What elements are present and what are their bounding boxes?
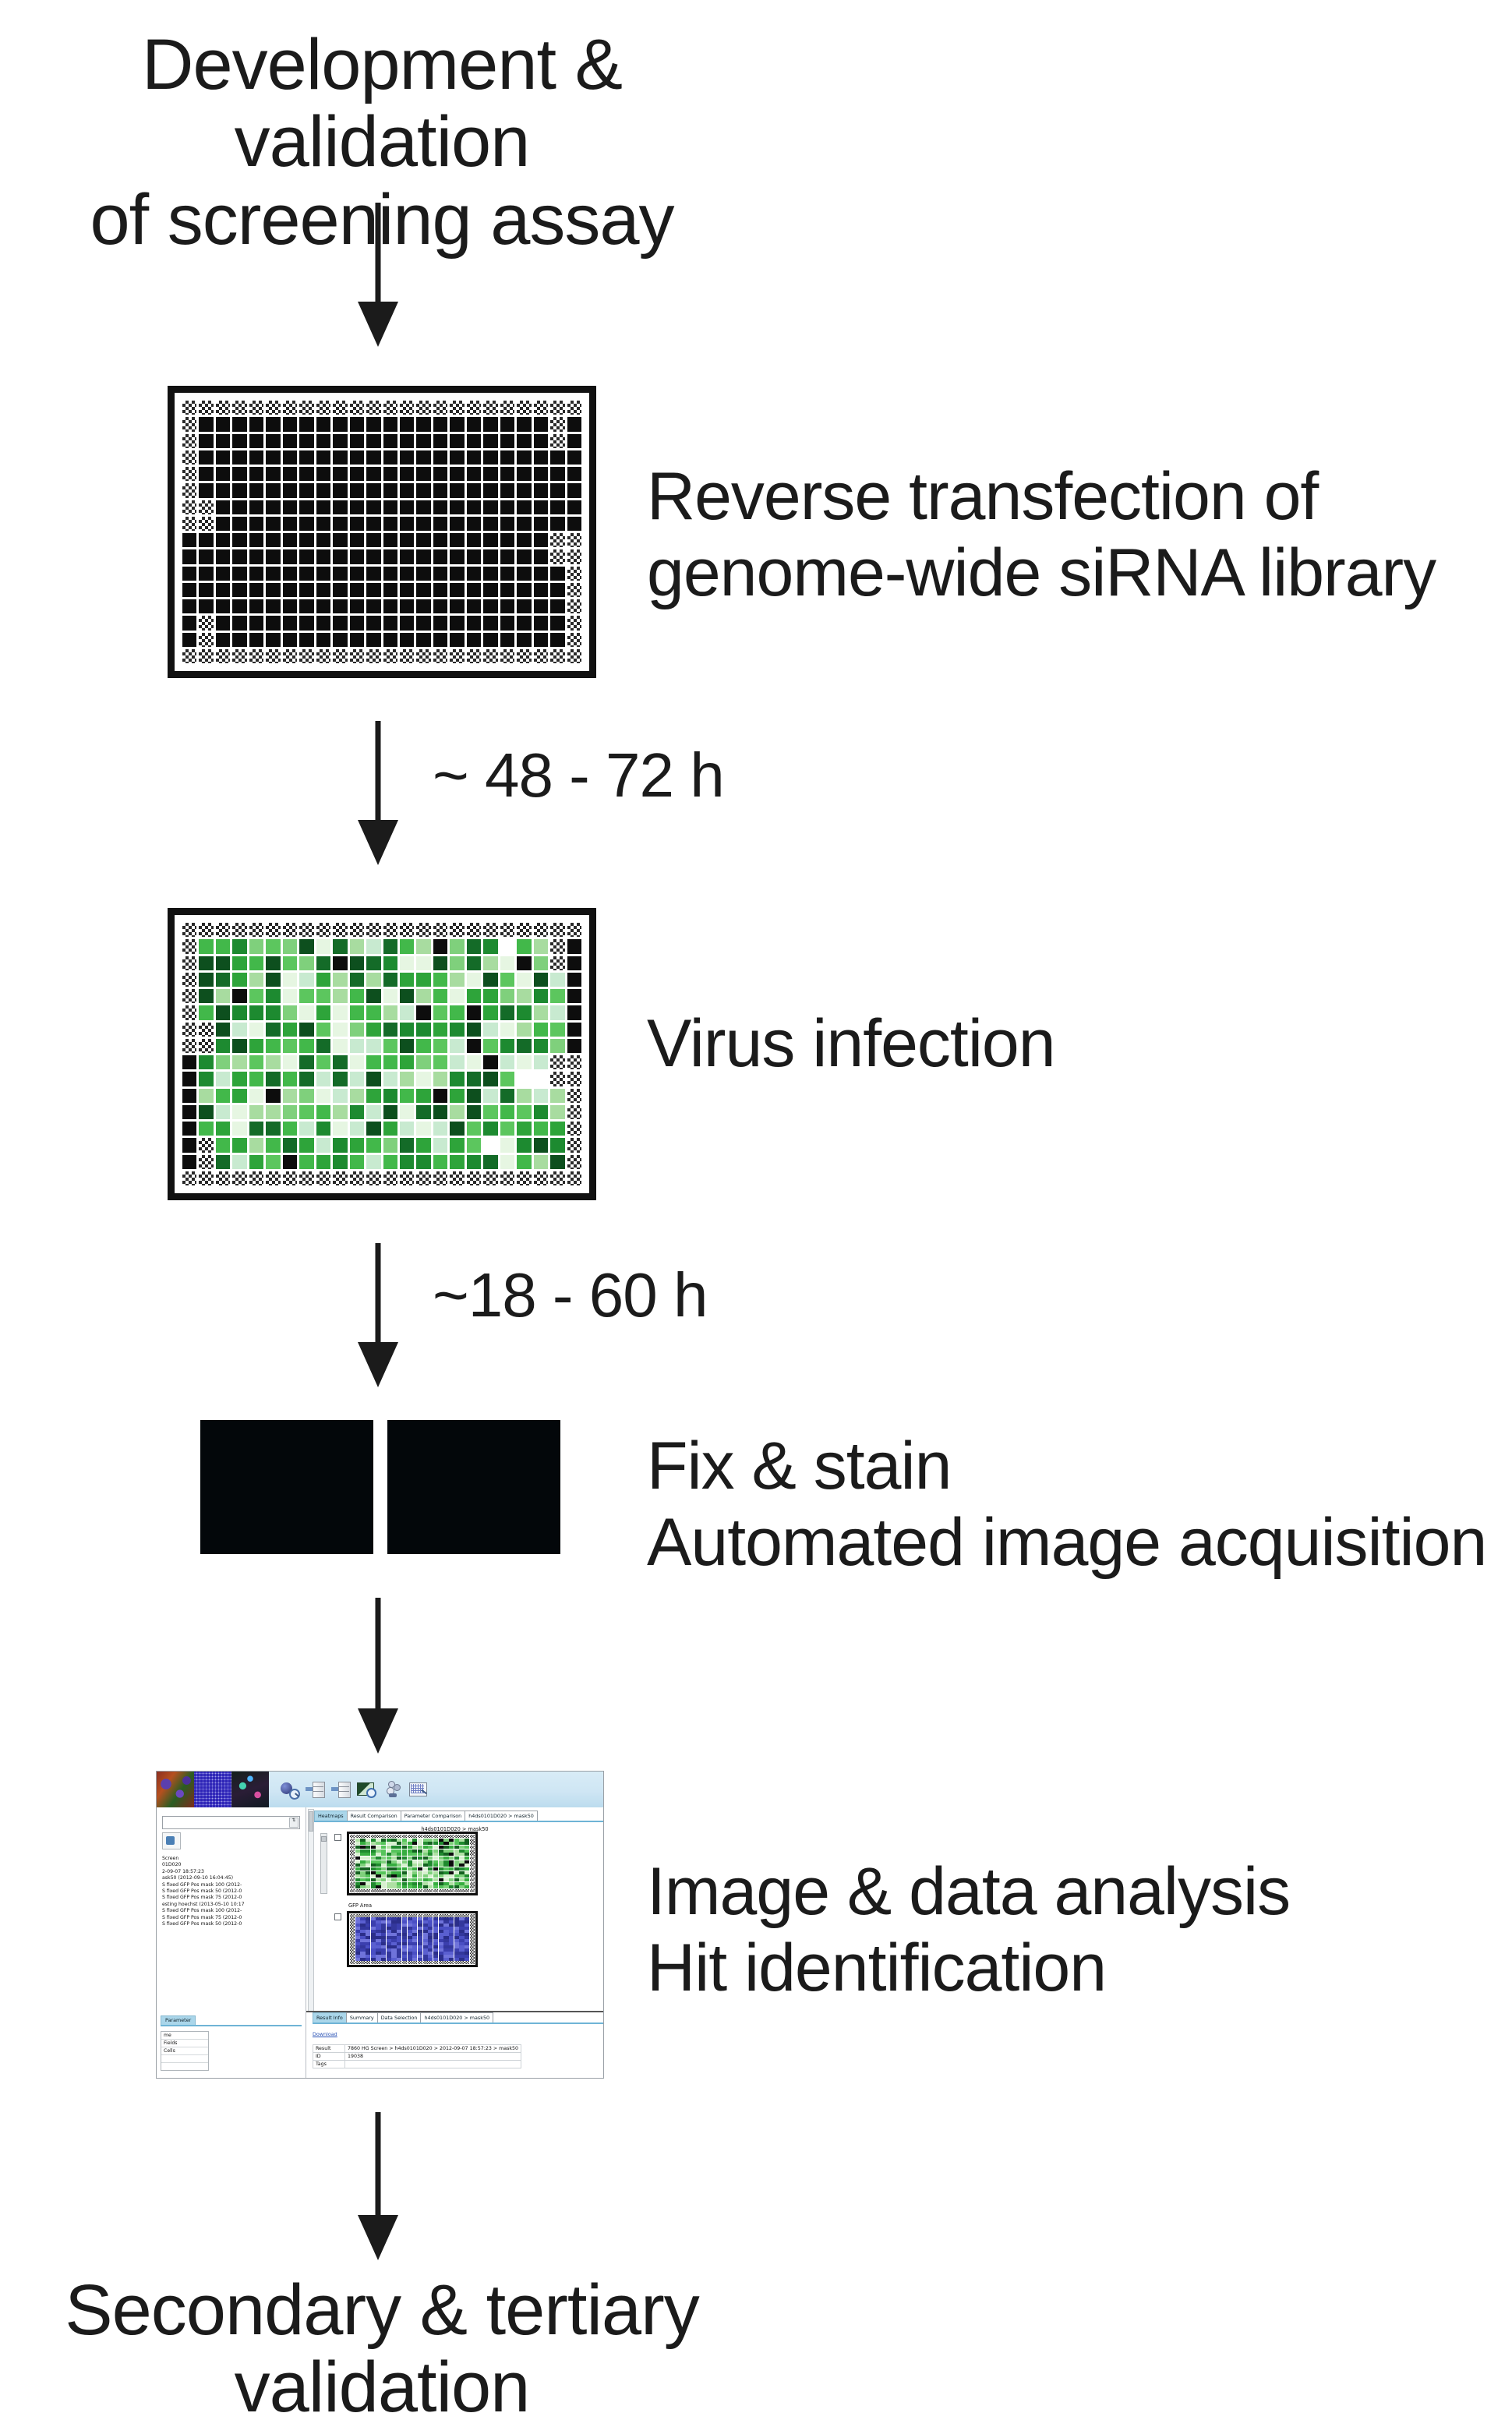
mini-well [402,1835,407,1838]
plate-well [383,1005,397,1019]
mini-well [412,1835,417,1838]
plate-well [483,956,497,970]
tree-item[interactable]: ask50 (2012-09-10 16:04:45) [162,1875,300,1881]
tree-item[interactable]: S fixed GFP Pos mask 50 (2012-0 [162,1921,300,1927]
plate-well [199,923,213,937]
mini-well [360,1846,365,1849]
plate-well [266,1005,280,1019]
mini-well [428,1961,433,1964]
plate-well [400,517,414,531]
mini-well [470,1942,475,1945]
mini-well [412,1885,417,1888]
list-item[interactable]: Cells [161,2047,208,2055]
plate-well [232,599,246,613]
import-plate-icon[interactable] [306,1780,326,1799]
plate-well [400,417,414,431]
plate-well [266,923,280,937]
mini-well [371,1958,376,1961]
plate-well [333,973,347,987]
plate-well [534,467,548,481]
plate-well [534,1122,548,1136]
plate-well [483,989,497,1003]
mini-well [391,1842,396,1845]
heatmap-green-plate[interactable] [347,1832,478,1895]
mini-well [443,1914,448,1917]
plate-well [316,989,330,1003]
mini-well [465,1939,469,1942]
plate-well [316,533,330,547]
mini-well [443,1846,448,1849]
plate-well [316,450,330,465]
plate-well [182,973,196,987]
tree-item[interactable]: 2-09-07 18:57:23 [162,1869,300,1875]
tree-item[interactable]: esting hoechst (2013-05-10 10:17 [162,1902,300,1908]
plate-well [567,1155,581,1169]
plate-well [249,1138,263,1152]
plate-well [500,417,514,431]
plate-well [450,1122,464,1136]
mini-well [402,1856,407,1860]
cell-value: 19038 [344,2053,521,2061]
tab-result-info[interactable]: Result Info [313,2012,347,2022]
mini-well [449,1958,454,1961]
plate-well [433,989,447,1003]
mini-well [439,1924,443,1927]
mini-well [402,1871,407,1874]
mini-well [459,1936,464,1939]
mini-well [387,1924,391,1927]
plate-well [500,467,514,481]
mini-well [412,1955,417,1958]
plate-well [534,1005,548,1019]
plate-well [517,616,531,630]
tab-data-selection[interactable]: Data Selection [377,2012,422,2022]
mini-well [470,1961,475,1964]
plate-well [283,1072,297,1086]
mini-well [443,1864,448,1867]
plate-well [232,1005,246,1019]
plate-well [450,1171,464,1185]
mini-well [366,1867,370,1871]
plate-well [350,1072,364,1086]
plate-well [483,1072,497,1086]
mini-well [449,1936,454,1939]
plate-well [517,1105,531,1119]
mini-well [449,1920,454,1924]
plate-well [283,483,297,497]
mini-well [381,1917,386,1920]
mini-well [443,1952,448,1955]
right-panel: HeatmapsResult ComparisonParameter Compa… [306,1807,603,2078]
mini-well [454,1930,459,1933]
result-tree[interactable]: Screen 01D020 2-09-07 18:57:23 ask50 (20… [161,1856,302,1927]
mini-well [433,1952,438,1955]
plate-well [350,1055,364,1069]
plate-well [249,1072,263,1086]
plate-well [500,956,514,970]
mini-well [402,1933,407,1936]
plate-well [534,989,548,1003]
mini-well [402,1955,407,1958]
mini-well [412,1942,417,1945]
plate-well [350,649,364,663]
mini-well [433,1871,438,1874]
plate-well [333,450,347,465]
plate-well [517,1155,531,1169]
list-item[interactable] [161,2055,208,2063]
analysis-software-screenshot[interactable]: ⇅ Screen 01D020 2-09-07 18:57:23 ask50 (… [156,1771,604,2079]
tree-item[interactable]: S fixed GFP Pos mask 50 (2012-0 [162,1888,300,1895]
plate-well [483,633,497,647]
mini-well [355,1864,360,1867]
heatmap-blue-plate[interactable] [347,1911,478,1967]
plate-well [266,1138,280,1152]
mini-well [397,1860,401,1864]
mini-well [397,1871,401,1874]
plate-well [550,1138,564,1152]
mini-well [443,1948,448,1952]
plate-well [483,1055,497,1069]
mini-well [360,1889,365,1892]
plate-well [416,923,430,937]
plate-well [182,1055,196,1069]
mini-well [381,1846,386,1849]
plate-well [249,567,263,581]
mini-well [449,1948,454,1952]
mini-well [470,1871,475,1874]
mini-well [412,1936,417,1939]
plate-well [483,939,497,953]
plate-well [400,533,414,547]
tree-item[interactable]: S fixed GFP Pos mask 100 (2012- [162,1908,300,1914]
mini-well [381,1871,386,1874]
download-link[interactable]: Download [313,2031,337,2037]
tab-heatmaps[interactable]: Heatmaps [314,1811,348,1821]
mini-well [397,1917,401,1920]
mini-well [459,1917,464,1920]
plate-well [266,417,280,431]
mini-well [397,1864,401,1867]
plate-well [383,599,397,613]
plate-well [216,1138,230,1152]
plate-well [199,1055,213,1069]
plate-well [316,401,330,415]
plate-well [416,467,430,481]
mini-well [360,1860,365,1864]
plate-well [182,1089,196,1103]
mini-well [376,1958,380,1961]
plate-layout-icon[interactable] [408,1780,429,1799]
mini-well [387,1856,391,1860]
plate-well [483,500,497,514]
mini-well [443,1856,448,1860]
list-item[interactable]: Fields [161,2040,208,2047]
mini-well [350,1874,355,1878]
plate-well [182,599,196,613]
mini-well [402,1945,407,1948]
search-combo[interactable]: ⇅ [162,1816,300,1829]
mini-well [465,1914,469,1917]
mini-well [470,1924,475,1927]
plate-well [500,434,514,448]
mini-well [366,1948,370,1952]
plate-well [216,1122,230,1136]
mini-well [439,1936,443,1939]
plate-well [266,973,280,987]
mini-well [423,1839,428,1842]
mini-well [423,1955,428,1958]
mini-well [391,1882,396,1885]
mini-well [449,1917,454,1920]
mini-well [454,1874,459,1878]
plate-well [483,417,497,431]
mini-well [366,1849,370,1853]
plate-well [400,973,414,987]
mini-well [439,1917,443,1920]
mini-well [371,1835,376,1838]
plate-well [383,956,397,970]
mini-well [371,1860,376,1864]
plate-well [467,956,481,970]
plate-well [416,417,430,431]
plate-well [216,956,230,970]
plate-well [517,1122,531,1136]
mini-well [443,1842,448,1845]
mini-well [366,1839,370,1842]
plate-well [467,1072,481,1086]
plate-well [366,956,380,970]
plate-well [467,1005,481,1019]
tab-bottom-mask50[interactable]: h4ds0101D020 > mask50 [420,2012,493,2022]
plate-well [182,583,196,597]
list-item[interactable]: me [161,2032,208,2040]
mini-well [470,1933,475,1936]
plate-well [534,1055,548,1069]
mini-well [391,1917,396,1920]
mini-well [387,1914,391,1917]
plate-well [400,956,414,970]
tree-item[interactable]: S fixed GFP Pos mask 100 (2012- [162,1882,300,1888]
mini-well [418,1839,422,1842]
mini-well [376,1952,380,1955]
plate-well [299,1072,313,1086]
mini-well [423,1882,428,1885]
plate-well [199,567,213,581]
mini-well [391,1914,396,1917]
tab-parameter-comparison[interactable]: Parameter Comparison [401,1811,466,1821]
mini-well [418,1930,422,1933]
plate-well [450,989,464,1003]
heatmap1-slider[interactable] [320,1833,327,1894]
plate-well [333,989,347,1003]
mini-well [391,1871,396,1874]
tree-item[interactable]: 01D020 [162,1862,300,1868]
export-plate-icon[interactable] [331,1780,352,1799]
mini-well [360,1958,365,1961]
plate-well [383,417,397,431]
plate-well [333,1089,347,1103]
plate-well [366,649,380,663]
mini-well [381,1924,386,1927]
mini-well [366,1920,370,1924]
mini-well [391,1839,396,1842]
parameter-list[interactable]: me Fields Cells [161,2031,209,2071]
mini-well [423,1942,428,1945]
mini-well [397,1939,401,1942]
mini-well [397,1874,401,1878]
chevron-updown-icon[interactable]: ⇅ [289,1818,299,1828]
plate-well [433,956,447,970]
plate-well [316,616,330,630]
plate-well [366,567,380,581]
mini-well [418,1871,422,1874]
mini-well [443,1839,448,1842]
plate-well [366,483,380,497]
plate-well [199,1171,213,1185]
mini-well [381,1867,386,1871]
mini-well [439,1885,443,1888]
plate-well [216,923,230,937]
plate-well [333,583,347,597]
mini-well [465,1867,469,1871]
tab-summary[interactable]: Summary [346,2012,378,2022]
plate-well [182,1023,196,1037]
plate-well [199,417,213,431]
left-panel: ⇅ Screen 01D020 2-09-07 18:57:23 ask50 (… [157,1807,306,2078]
plate-well [534,1155,548,1169]
heatmap2-checkbox[interactable] [334,1913,341,1920]
plate-well [433,939,447,953]
mini-well [387,1878,391,1881]
mini-well [412,1867,417,1871]
plate-well [199,450,213,465]
mini-well [381,1889,386,1892]
plate-well [483,533,497,547]
list-item[interactable] [161,2063,208,2070]
mini-well [355,1914,360,1917]
mini-well [360,1955,365,1958]
plate-well [400,633,414,647]
mini-well [439,1882,443,1885]
image-analysis-icon[interactable] [357,1780,377,1799]
mini-well [391,1860,396,1864]
mini-well [397,1961,401,1964]
mini-well [355,1874,360,1878]
result-info-table: Result 7860 HG Screen > h4ds0101D020 > 2… [313,2044,521,2068]
plate-well [416,1122,430,1136]
plate-well [450,599,464,613]
plate-well [316,467,330,481]
mini-well [465,1882,469,1885]
plate-well [433,434,447,448]
mini-well [459,1842,464,1845]
mini-well [402,1942,407,1945]
mini-well [465,1961,469,1964]
mini-well [355,1867,360,1871]
tab-result-comparison[interactable]: Result Comparison [347,1811,401,1821]
mini-well [371,1930,376,1933]
mini-well [423,1952,428,1955]
plate-well [550,483,564,497]
plate-well [232,1023,246,1037]
plate-well [450,450,464,465]
mini-well [428,1856,433,1860]
plate-well [216,1023,230,1037]
mini-well [408,1945,412,1948]
plate-well [550,450,564,465]
analysis-tool-icon[interactable] [162,1832,181,1849]
mini-well [423,1933,428,1936]
plate-well [333,517,347,531]
plate-well [249,989,263,1003]
plate-well [299,1155,313,1169]
plate-well [283,1155,297,1169]
plate-well [266,549,280,563]
plate-well [416,1089,430,1103]
mini-well [439,1914,443,1917]
plate-well [450,1155,464,1169]
plate-well [467,417,481,431]
mini-well [423,1917,428,1920]
mini-well [376,1842,380,1845]
plate-well [199,1155,213,1169]
mini-well [402,1952,407,1955]
plate-well [283,1122,297,1136]
app-toolbar[interactable] [280,1780,429,1799]
mini-well [449,1942,454,1945]
plate-well [550,1023,564,1037]
plate-well [182,1138,196,1152]
mini-well [391,1933,396,1936]
mini-well [449,1930,454,1933]
mini-well [387,1945,391,1948]
plate-well [216,1105,230,1119]
mini-well [439,1874,443,1878]
plate-well [433,1023,447,1037]
mini-well [465,1856,469,1860]
mini-well [371,1948,376,1952]
plate-well [283,401,297,415]
screen-search-icon[interactable] [280,1780,300,1799]
plate-well [517,434,531,448]
mini-well [397,1835,401,1838]
plate-well [299,467,313,481]
mini-well [376,1945,380,1948]
thumb-cells-rgb [157,1772,194,1807]
tab-result-mask50[interactable]: h4ds0101D020 > mask50 [465,1811,538,1821]
plate-well [483,1089,497,1103]
plate-well [283,434,297,448]
plate-well [366,450,380,465]
mini-well [402,1860,407,1864]
tree-item[interactable]: Screen [162,1856,300,1862]
mini-well [387,1885,391,1888]
plate-well [299,417,313,431]
plate-well [467,1039,481,1053]
plate-well [500,1055,514,1069]
plate-well [433,649,447,663]
mini-well [454,1936,459,1939]
tree-item[interactable]: S fixed GFP Pos mask 75 (2012-0 [162,1895,300,1901]
plate-well [249,467,263,481]
plate-well [534,1089,548,1103]
plate-well [567,533,581,547]
tree-item[interactable]: S fixed GFP Pos mask 75 (2012-0 [162,1915,300,1921]
plate-well [416,1039,430,1053]
cell-segmentation-icon[interactable] [383,1780,403,1799]
heatmap1-checkbox[interactable] [334,1834,341,1841]
tab-parameter[interactable]: Parameter [161,2015,196,2025]
